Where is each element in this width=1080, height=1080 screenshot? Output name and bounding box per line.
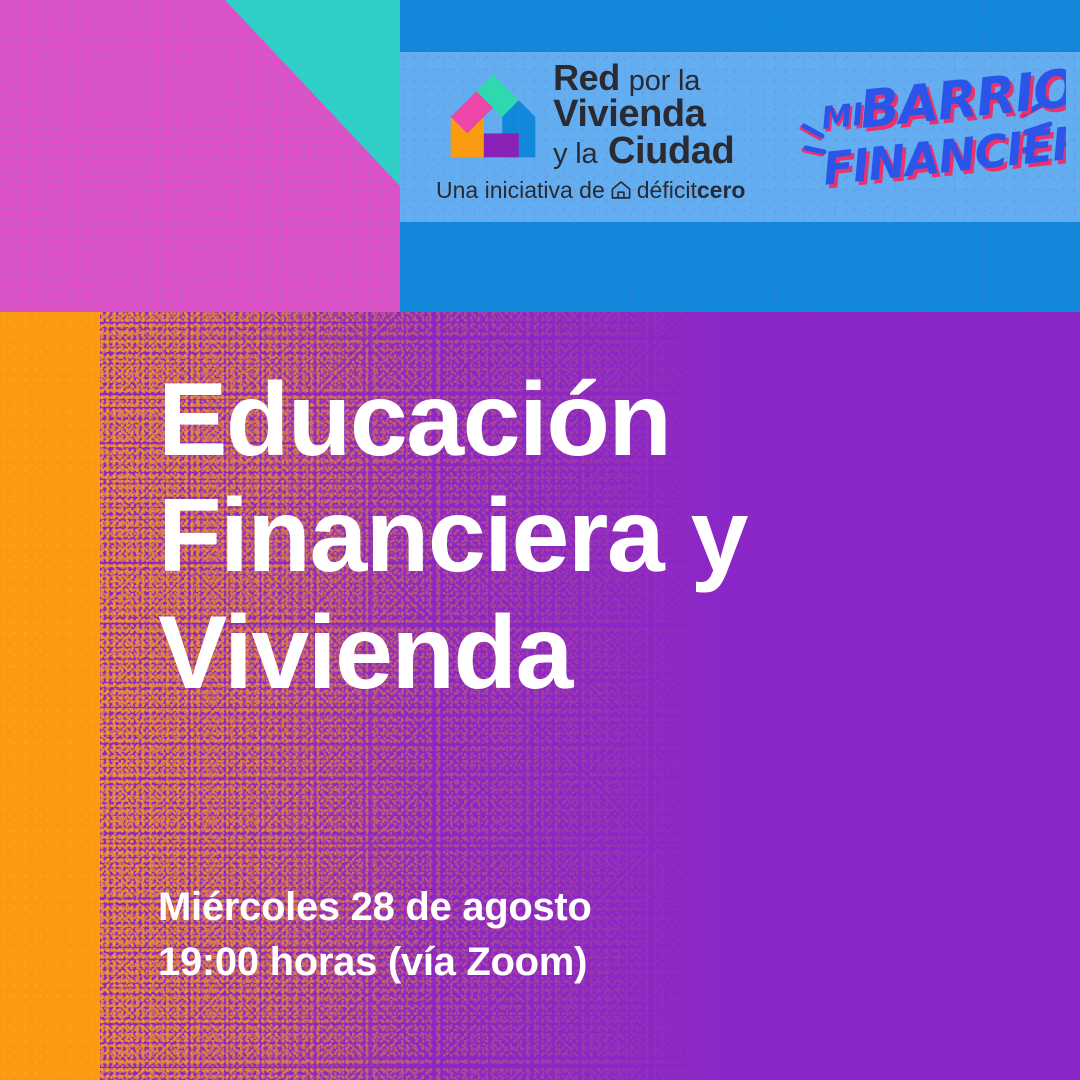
poster-canvas: Red por la Vivienda y la Ciudad Una inic… <box>0 0 1080 1080</box>
deficit-cero-brand: déficitcero <box>637 177 746 204</box>
decor-column-orange <box>0 312 100 1080</box>
house-logo-icon <box>447 69 539 161</box>
main-content-area: Educación Financiera y Vivienda Miércole… <box>100 312 1080 1080</box>
wordmark-vivienda: Vivienda <box>553 93 705 135</box>
red-vivienda-lockup-top: Red por la Vivienda y la Ciudad <box>447 60 734 171</box>
tagline-prefix: Una iniciativa de <box>436 177 605 204</box>
wordmark-line-1: Red por la <box>553 60 734 96</box>
mi-barrio-financiero-logo: .mbf-t { font-family:"DejaVu Sans", sans… <box>798 66 1066 210</box>
deficit-cero-house-icon <box>610 179 632 201</box>
wordmark-ciudad: Ciudad <box>608 130 734 172</box>
wordmark-line-3: y la Ciudad <box>553 133 734 171</box>
grain-overlay-orange <box>0 312 100 1080</box>
decor-triangle-teal <box>0 0 400 312</box>
decor-block-pink <box>0 0 400 312</box>
red-vivienda-ciudad-logo: Red por la Vivienda y la Ciudad Una inic… <box>436 60 745 204</box>
brand-cero: cero <box>697 177 746 203</box>
event-datetime: Miércoles 28 de agosto 19:00 horas (vía … <box>158 880 592 990</box>
mi-barrio-financiero-lettering: .mbf-t { font-family:"DejaVu Sans", sans… <box>798 66 1066 210</box>
wordmark-yla: y la <box>553 138 597 170</box>
brand-deficit: déficit <box>637 177 697 203</box>
deficit-cero-tagline: Una iniciativa de déficitcero <box>436 177 745 204</box>
logo-band: Red por la Vivienda y la Ciudad Una inic… <box>400 52 1080 222</box>
wordmark-line-2: Vivienda <box>553 96 734 134</box>
red-vivienda-wordmark: Red por la Vivienda y la Ciudad <box>553 60 734 171</box>
page-title: Educación Financiera y Vivienda <box>158 362 978 711</box>
